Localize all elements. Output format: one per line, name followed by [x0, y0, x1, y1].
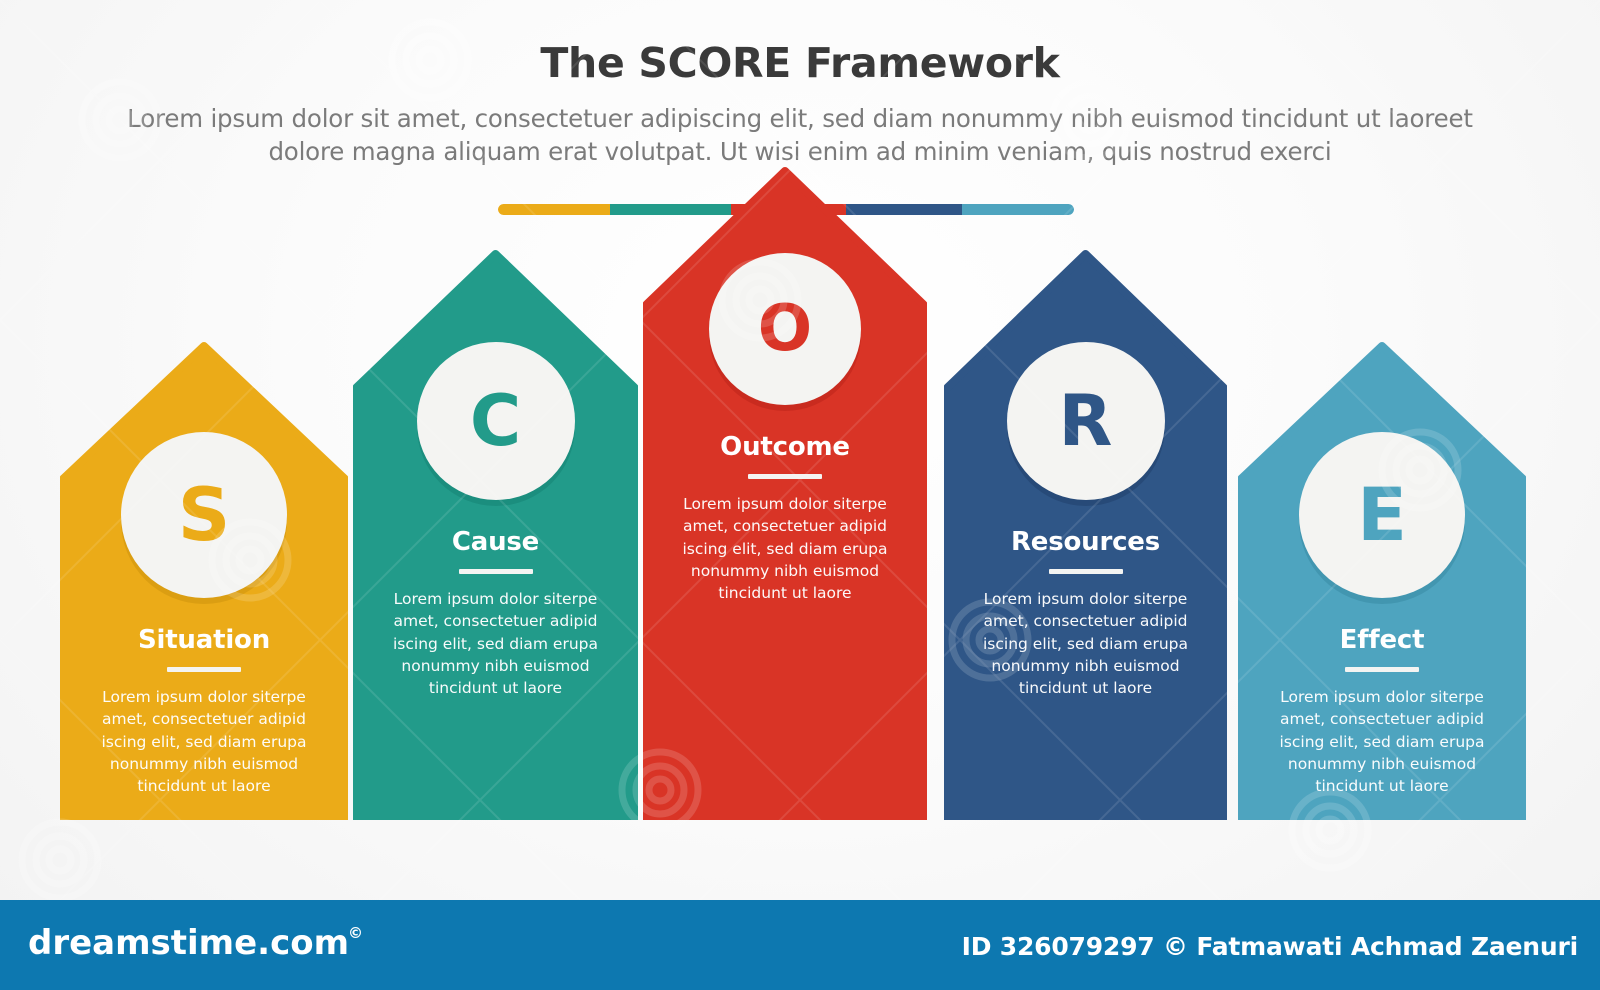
score-card-outcome[interactable]: O Outcome Lorem ipsum dolor siterpe amet…: [643, 167, 927, 820]
badge-circle-effect: E: [1299, 432, 1465, 598]
score-card-resources[interactable]: R Resources Lorem ipsum dolor siterpe am…: [944, 250, 1227, 820]
badge-letter-situation: S: [178, 479, 231, 552]
card-content-cause: C Cause Lorem ipsum dolor siterpe amet, …: [353, 342, 638, 700]
card-content-resources: R Resources Lorem ipsum dolor siterpe am…: [944, 342, 1227, 700]
badge-circle-resources: R: [1007, 342, 1165, 500]
badge-letter-cause: C: [470, 386, 521, 456]
card-title-situation: Situation: [60, 626, 348, 655]
card-divider-resources: [1049, 569, 1123, 574]
card-title-resources: Resources: [944, 528, 1227, 557]
dreamstime-logo-text: dreamstime.com: [28, 923, 349, 963]
score-card-cause[interactable]: C Cause Lorem ipsum dolor siterpe amet, …: [353, 250, 638, 820]
card-description-cause: Lorem ipsum dolor siterpe amet, consecte…: [376, 588, 615, 700]
badge-letter-outcome: O: [758, 297, 812, 361]
badge-letter-effect: E: [1357, 479, 1407, 552]
card-divider-situation: [167, 667, 241, 672]
card-description-resources: Lorem ipsum dolor siterpe amet, consecte…: [967, 588, 1205, 700]
card-description-situation: Lorem ipsum dolor siterpe amet, consecte…: [83, 686, 325, 798]
badge-circle-situation: S: [121, 432, 287, 598]
card-description-effect: Lorem ipsum dolor siterpe amet, consecte…: [1261, 686, 1503, 798]
card-description-outcome: Lorem ipsum dolor siterpe amet, consecte…: [666, 493, 905, 605]
registered-mark-icon: ©: [348, 924, 363, 942]
footer-credit: ID 326079297 © Fatmawati Achmad Zaenuri: [962, 932, 1578, 961]
badge-circle-cause: C: [417, 342, 575, 500]
card-divider-outcome: [748, 474, 822, 479]
card-content-effect: E Effect Lorem ipsum dolor siterpe amet,…: [1238, 432, 1526, 798]
score-arrow-group: S Situation Lorem ipsum dolor siterpe am…: [0, 0, 1600, 905]
badge-letter-resources: R: [1059, 386, 1113, 456]
card-divider-cause: [459, 569, 533, 574]
card-content-situation: S Situation Lorem ipsum dolor siterpe am…: [60, 432, 348, 798]
dreamstime-logo[interactable]: dreamstime.com©: [28, 926, 364, 960]
score-card-effect[interactable]: E Effect Lorem ipsum dolor siterpe amet,…: [1238, 342, 1526, 820]
badge-circle-outcome: O: [709, 253, 861, 405]
card-content-outcome: O Outcome Lorem ipsum dolor siterpe amet…: [643, 253, 927, 605]
score-card-situation[interactable]: S Situation Lorem ipsum dolor siterpe am…: [60, 342, 348, 820]
card-title-effect: Effect: [1238, 626, 1526, 655]
card-divider-effect: [1345, 667, 1419, 672]
card-title-outcome: Outcome: [643, 433, 927, 462]
infographic-canvas: The SCORE Framework Lorem ipsum dolor si…: [0, 0, 1600, 990]
footer-bar: dreamstime.com© ID 326079297 © Fatmawati…: [0, 900, 1600, 990]
card-title-cause: Cause: [353, 528, 638, 557]
